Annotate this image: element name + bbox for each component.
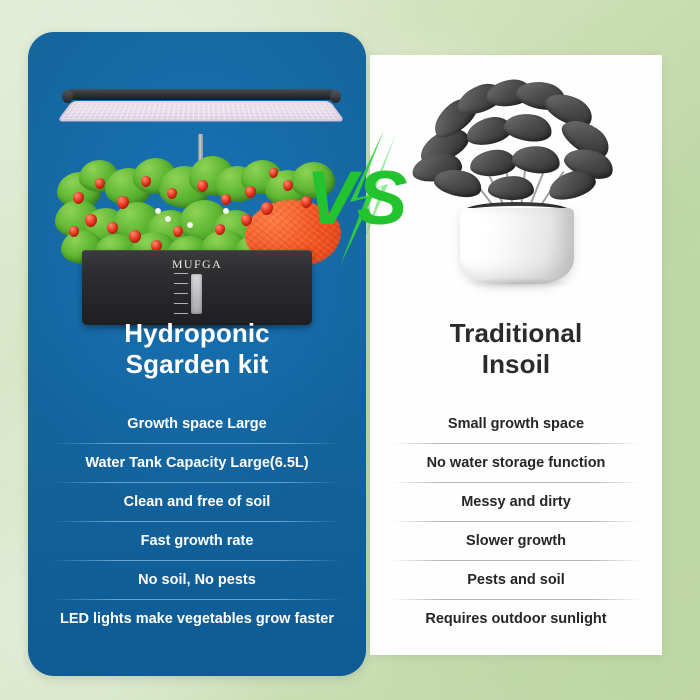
comparison-infographic: MUFGA	[0, 0, 700, 700]
feature-row: No soil, No pests	[28, 560, 366, 599]
right-title-line-2: Insoil	[370, 349, 662, 380]
right-feature-list: Small growth space No water storage func…	[370, 404, 662, 638]
feature-row: No water storage function	[370, 443, 662, 482]
feature-row: Requires outdoor sunlight	[370, 599, 662, 638]
feature-row: Small growth space	[370, 404, 662, 443]
left-feature-list: Growth space Large Water Tank Capacity L…	[28, 404, 366, 638]
feature-row: Pests and soil	[370, 560, 662, 599]
feature-row: Growth space Large	[28, 404, 366, 443]
left-column: Hydroponic Sgarden kit Growth space Larg…	[28, 0, 366, 700]
right-column: Traditional Insoil Small growth space No…	[370, 0, 662, 700]
right-panel-title: Traditional Insoil	[370, 318, 662, 380]
feature-row: Messy and dirty	[370, 482, 662, 521]
feature-row: Fast growth rate	[28, 521, 366, 560]
feature-row: Slower growth	[370, 521, 662, 560]
feature-row: Clean and free of soil	[28, 482, 366, 521]
left-panel-title: Hydroponic Sgarden kit	[28, 318, 366, 380]
feature-row: LED lights make vegetables grow faster	[28, 599, 366, 638]
feature-row: Water Tank Capacity Large(6.5L)	[28, 443, 366, 482]
left-title-line-1: Hydroponic	[28, 318, 366, 349]
right-title-line-1: Traditional	[370, 318, 662, 349]
left-title-line-2: Sgarden kit	[28, 349, 366, 380]
